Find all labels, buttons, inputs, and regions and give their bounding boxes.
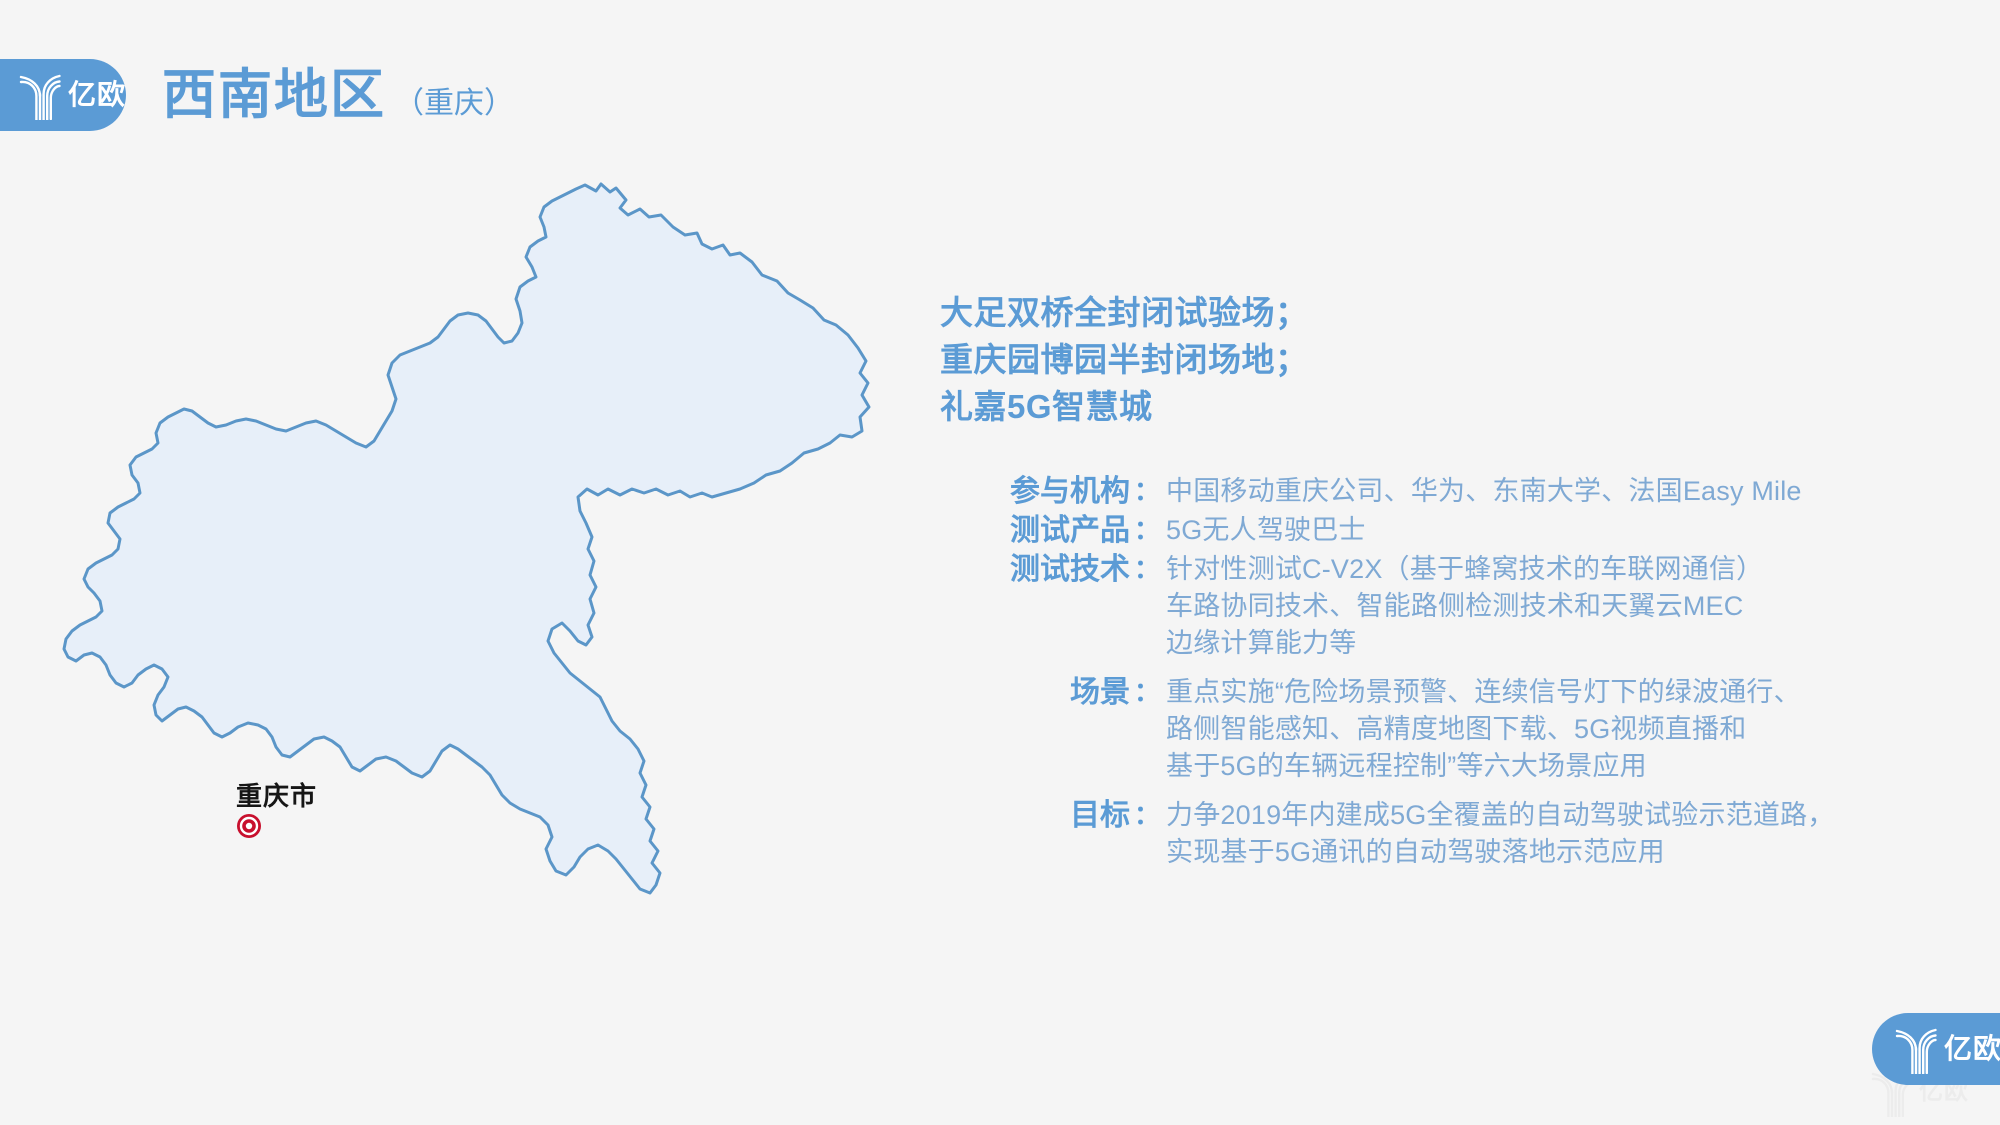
chongqing-map: 重庆市 (40, 145, 910, 920)
detail-label: 测试技术 (940, 551, 1130, 588)
detail-value: 力争2019年内建成5G全覆盖的自动驾驶试验示范道路， 实现基于5G通讯的自动驾… (1166, 797, 1834, 871)
city-label-chongqing: 重庆市 (236, 776, 317, 813)
capital-marker-icon[interactable] (236, 813, 262, 839)
detail-label: 场景 (940, 674, 1130, 711)
detail-list: 参与机构 ： 中国移动重庆公司、华为、东南大学、法国Easy Mile 测试产品… (940, 473, 1970, 871)
detail-row-test-technology: 测试技术 ： 针对性测试C-V2X（基于蜂窝技术的车联网通信） 车路协同技术、智… (940, 551, 1970, 662)
detail-label: 测试产品 (940, 512, 1130, 549)
detail-value: 5G无人驾驶巴士 (1166, 512, 1366, 549)
detail-label: 目标 (940, 797, 1130, 834)
yiou-tree-footer-icon (1894, 1024, 1938, 1074)
brand-logo-badge[interactable]: 亿欧 (0, 59, 126, 131)
detail-colon: ： (1130, 674, 1166, 711)
page-title-group: 西南地区 （重庆） (162, 68, 514, 122)
detail-value: 针对性测试C-V2X（基于蜂窝技术的车联网通信） 车路协同技术、智能路侧检测技术… (1166, 551, 1763, 662)
yiou-tree-icon (18, 70, 62, 120)
info-panel: 大足双桥全封闭试验场； 重庆园博园半封闭场地； 礼嘉5G智慧城 参与机构 ： 中… (940, 290, 1970, 873)
detail-row-scenarios: 场景 ： 重点实施“危险场景预警、连续信号灯下的绿波通行、 路侧智能感知、高精度… (940, 674, 1970, 785)
page-title: 西南地区 (162, 68, 386, 122)
detail-colon: ： (1130, 473, 1166, 510)
detail-colon: ： (1130, 551, 1166, 588)
detail-row-test-product: 测试产品 ： 5G无人驾驶巴士 (940, 512, 1970, 549)
page-header: 亿欧 西南地区 （重庆） (0, 55, 514, 135)
footer-logo-badge[interactable]: 亿欧 (1872, 1013, 2000, 1085)
footer-logo-text: 亿欧 (1944, 1035, 2000, 1063)
detail-label: 参与机构 (940, 473, 1130, 510)
detail-colon: ： (1130, 797, 1166, 834)
detail-row-participants: 参与机构 ： 中国移动重庆公司、华为、东南大学、法国Easy Mile (940, 473, 1970, 510)
detail-row-goal: 目标 ： 力争2019年内建成5G全覆盖的自动驾驶试验示范道路， 实现基于5G通… (940, 797, 1970, 871)
detail-value: 中国移动重庆公司、华为、东南大学、法国Easy Mile (1166, 473, 1802, 510)
detail-value: 重点实施“危险场景预警、连续信号灯下的绿波通行、 路侧智能感知、高精度地图下载、… (1166, 674, 1801, 785)
chongqing-outline-svg (40, 145, 910, 920)
brand-logo-text: 亿欧 (68, 81, 126, 109)
chongqing-region-path (64, 184, 869, 893)
page-subtitle: （重庆） (394, 89, 514, 119)
site-headline: 大足双桥全封闭试验场； 重庆园博园半封闭场地； 礼嘉5G智慧城 (940, 290, 1970, 431)
detail-colon: ： (1130, 512, 1166, 549)
